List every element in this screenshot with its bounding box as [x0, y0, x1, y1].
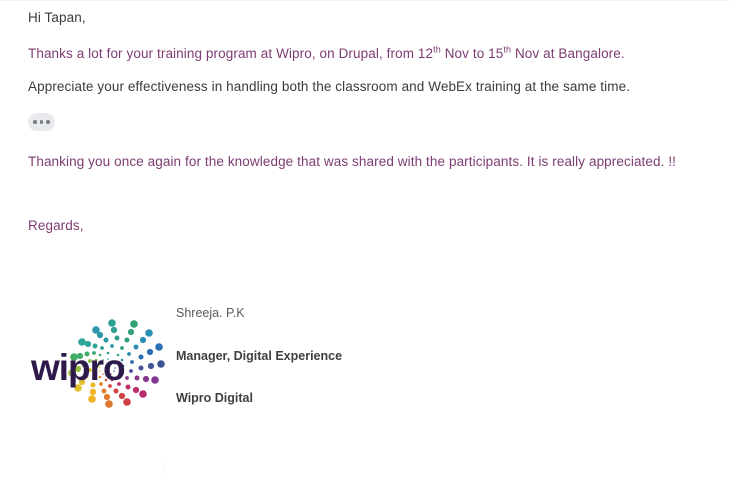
show-trimmed-content-button[interactable] [28, 113, 55, 131]
wipro-wordmark: wipro [30, 347, 125, 388]
signature-role: Manager, Digital Experience [176, 348, 342, 364]
thanks-text-before: Thanks a lot for your training program a… [28, 46, 433, 61]
signature-name: Shreeja. P.K [176, 305, 245, 321]
thanks-text-middle: Nov to 15 [441, 46, 504, 61]
page-artifact [162, 462, 165, 474]
email-paragraph-appreciate: Appreciate your effectiveness in handlin… [28, 78, 630, 95]
email-greeting: Hi Tapan, [28, 9, 86, 26]
ellipsis-dot-1 [33, 120, 37, 124]
ellipsis-dot-3 [46, 120, 50, 124]
email-paragraph-thanking: Thanking you once again for the knowledg… [28, 153, 676, 170]
email-paragraph-thanks: Thanks a lot for your training program a… [28, 45, 625, 62]
email-closing: Regards, [28, 217, 84, 234]
wipro-logo-svg: wipro [30, 312, 170, 427]
ordinal-suffix-15th: th [503, 45, 511, 55]
ordinal-suffix-12th: th [433, 45, 441, 55]
ellipsis-dot-2 [40, 120, 44, 124]
thanks-text-after: Nov at Bangalore. [511, 46, 625, 61]
email-message-body: Hi Tapan, Thanks a lot for your training… [0, 0, 731, 491]
signature-organization: Wipro Digital [176, 390, 253, 406]
wipro-logo: wipro [30, 312, 170, 427]
